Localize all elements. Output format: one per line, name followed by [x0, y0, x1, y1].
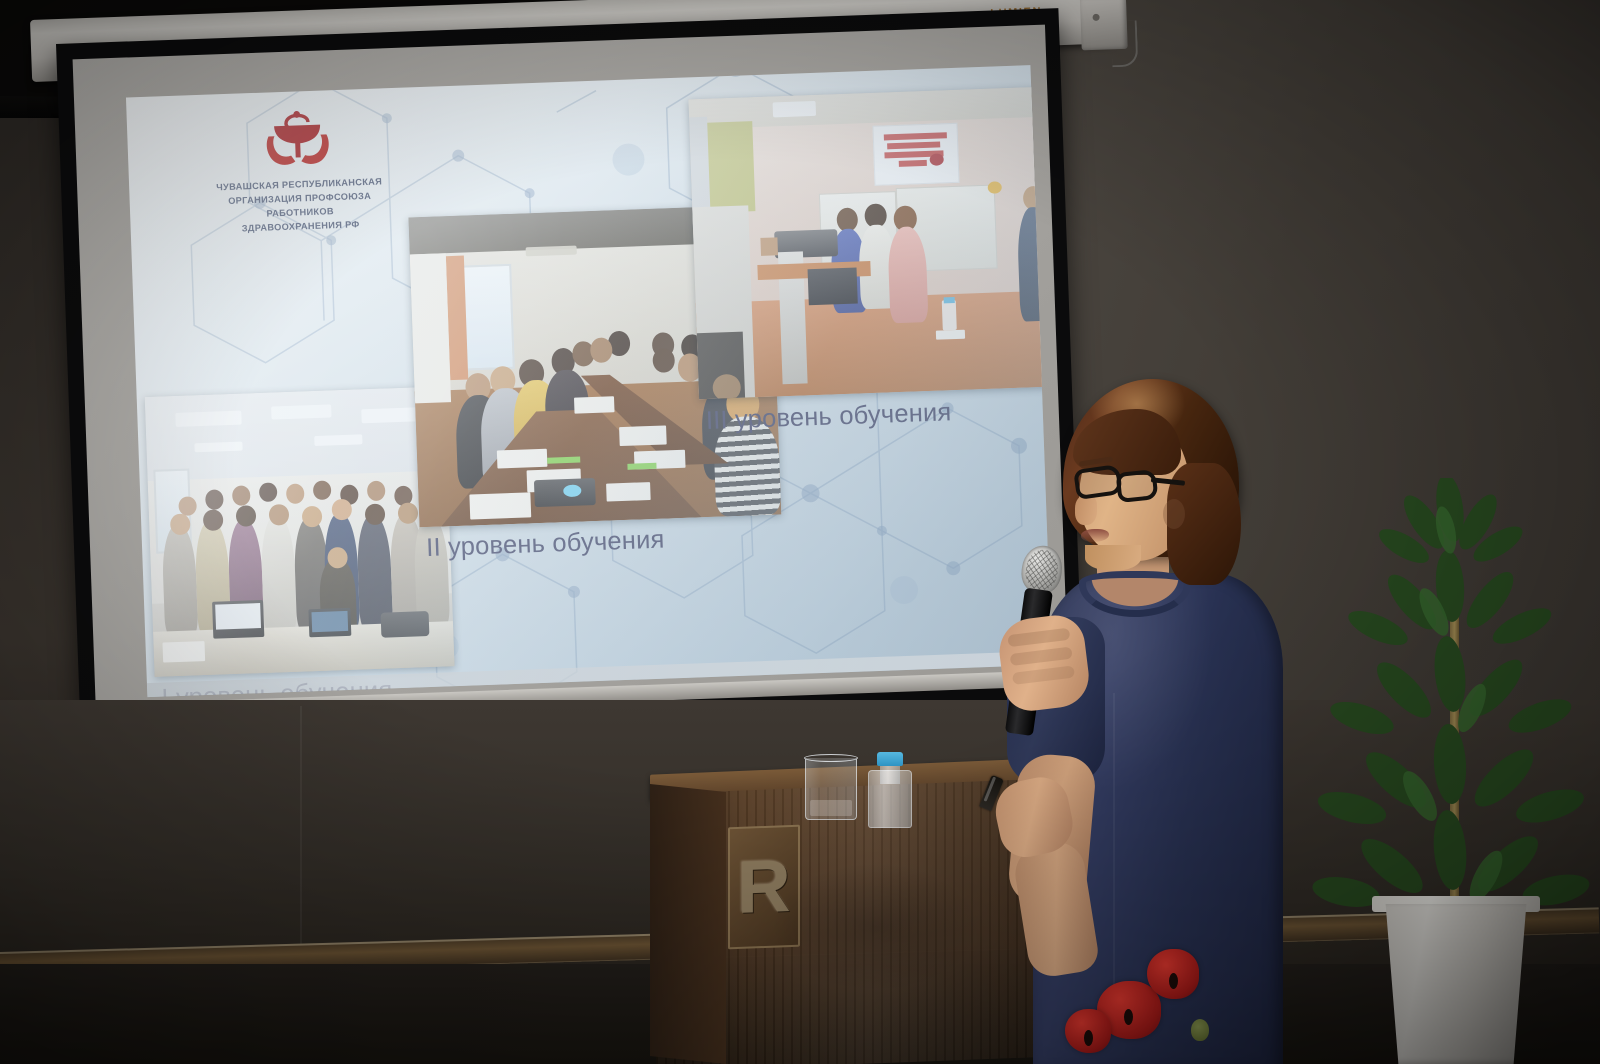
speaker-woman-with-microphone: [955, 355, 1325, 1064]
glasses-lens-left: [1073, 464, 1123, 500]
water-bottle[interactable]: [868, 752, 912, 828]
water-glass[interactable]: [805, 758, 857, 820]
bottle-cap: [877, 752, 903, 766]
potted-plant: [1300, 478, 1600, 1064]
eyeglasses: [1075, 467, 1161, 501]
lectern-shadow: [770, 862, 980, 992]
bottle-neck: [880, 764, 900, 784]
knuckles: [1007, 628, 1070, 647]
glasses-lens-right: [1116, 469, 1159, 503]
poppy-lower: [1065, 1009, 1111, 1053]
poppy-bud: [1191, 1019, 1209, 1041]
plant-foliage: [1300, 478, 1600, 938]
planter: [1376, 904, 1536, 1064]
hand-holding-microphone: [996, 612, 1093, 714]
head: [1067, 379, 1235, 579]
poppy-upper: [1147, 949, 1199, 999]
conference-room-scene: LUMIEN: [0, 0, 1600, 1064]
chin: [1085, 545, 1141, 571]
presentation-slide: ЧУВАШСКАЯ РЕСПУБЛИКАНСКАЯ ОРГАНИЗАЦИЯ ПР…: [126, 65, 1052, 697]
projection-screen: ЧУВАШСКАЯ РЕСПУБЛИКАНСКАЯ ОРГАНИЗАЦИЯ ПР…: [56, 8, 1083, 733]
ear: [1163, 499, 1185, 529]
slide-light-falloff: [126, 65, 1052, 697]
screen-pull-cord[interactable]: [1111, 20, 1139, 67]
screen-surface: ЧУВАШСКАЯ РЕСПУБЛИКАНСКАЯ ОРГАНИЗАЦИЯ ПР…: [73, 25, 1069, 715]
wall-panel-seam: [300, 706, 302, 956]
lectern-side-panel: [650, 784, 726, 1064]
